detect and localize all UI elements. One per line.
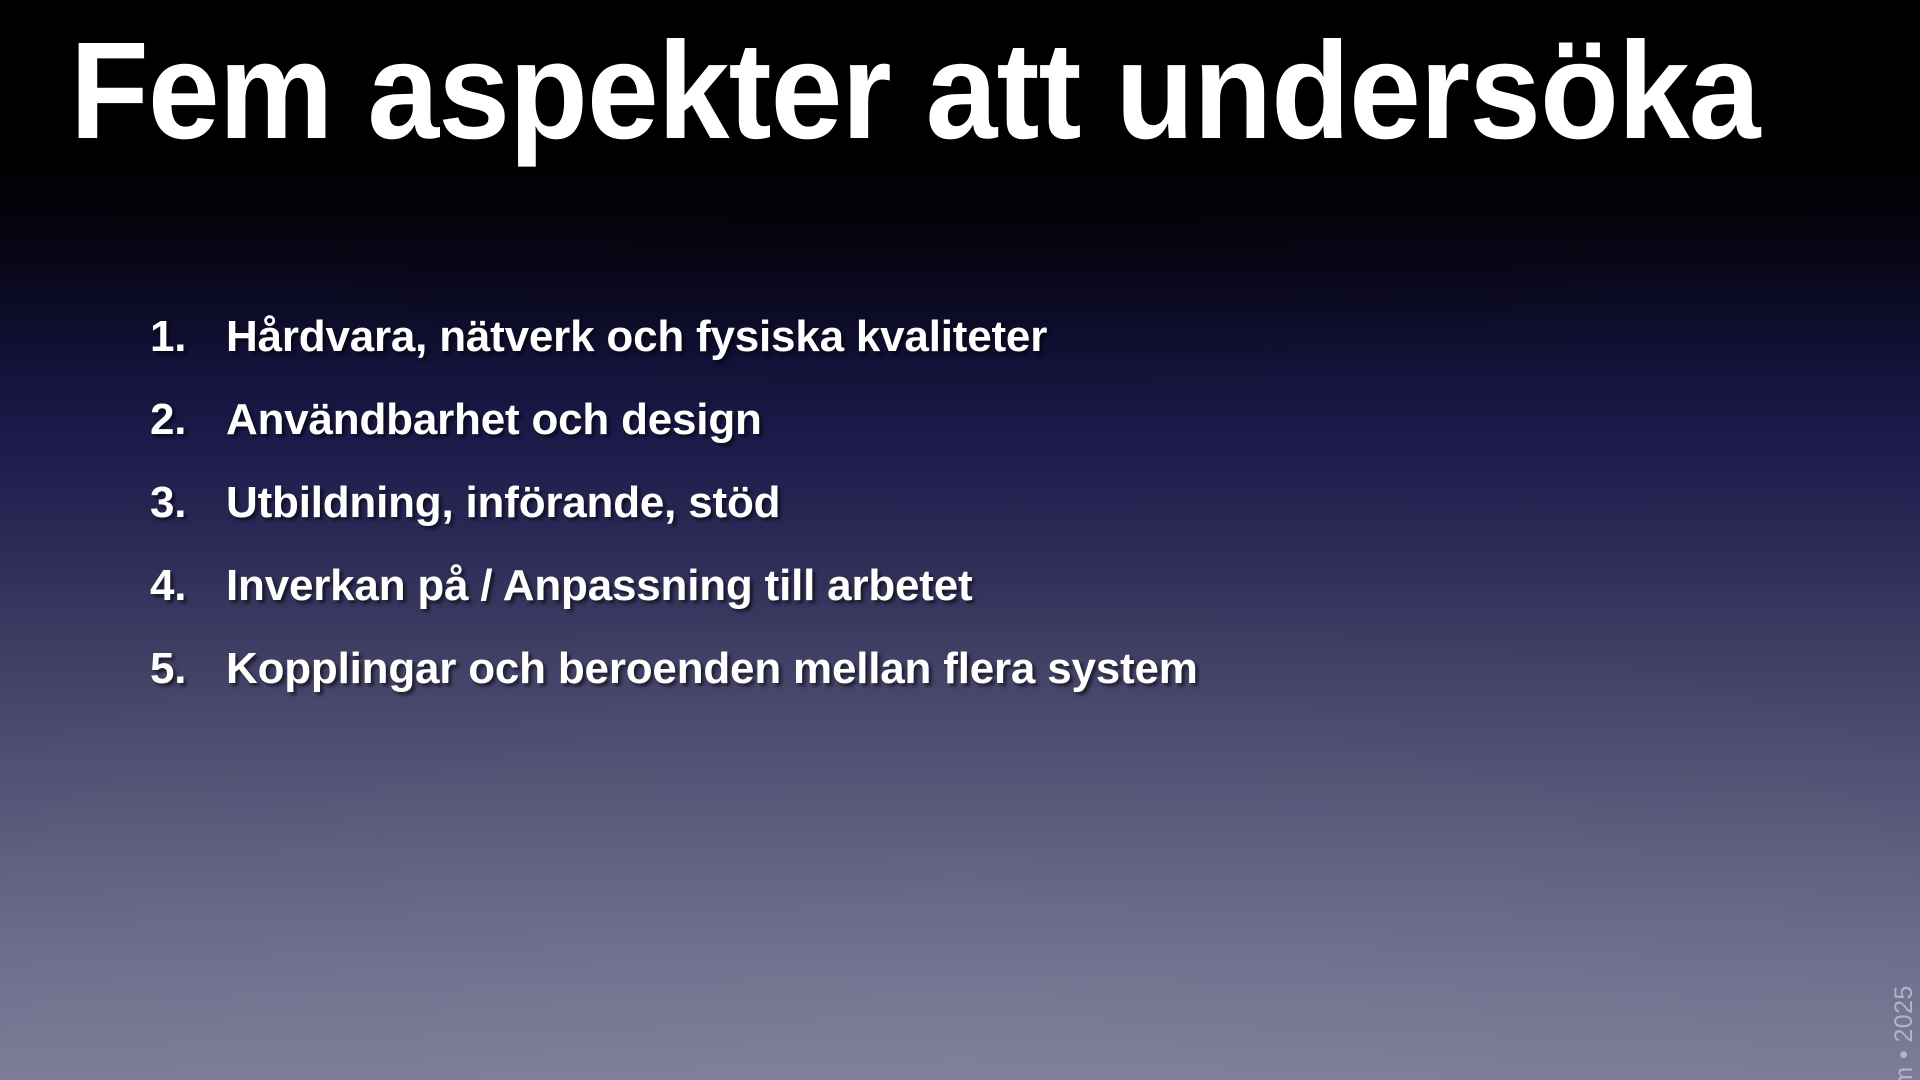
aspects-list: 1. Hårdvara, nätverk och fysiska kvalite… xyxy=(150,312,1710,727)
list-item-label: Utbildning, införande, stöd xyxy=(226,478,1710,528)
list-item: 5. Kopplingar och beroenden mellan flera… xyxy=(150,644,1710,727)
list-item-number: 1. xyxy=(150,312,226,362)
list-item-number: 3. xyxy=(150,478,226,528)
slide-title: Fem aspekter att undersöka xyxy=(70,22,1762,160)
list-item: 4. Inverkan på / Anpassning till arbetet xyxy=(150,561,1710,644)
list-item-number: 2. xyxy=(150,395,226,445)
list-item-number: 4. xyxy=(150,561,226,611)
presentation-slide: Fem aspekter att undersöka 1. Hårdvara, … xyxy=(0,0,1920,1080)
list-item: 1. Hårdvara, nätverk och fysiska kvalite… xyxy=(150,312,1710,395)
list-item-number: 5. xyxy=(150,644,226,694)
author-attribution: Jonas Söderström • 2025 xyxy=(1890,985,1919,1080)
list-item-label: Hårdvara, nätverk och fysiska kvaliteter xyxy=(226,312,1710,362)
list-item-label: Användbarhet och design xyxy=(226,395,1710,445)
list-item-label: Kopplingar och beroenden mellan flera sy… xyxy=(226,644,1710,694)
list-item-label: Inverkan på / Anpassning till arbetet xyxy=(226,561,1710,611)
list-item: 3. Utbildning, införande, stöd xyxy=(150,478,1710,561)
list-item: 2. Användbarhet och design xyxy=(150,395,1710,478)
